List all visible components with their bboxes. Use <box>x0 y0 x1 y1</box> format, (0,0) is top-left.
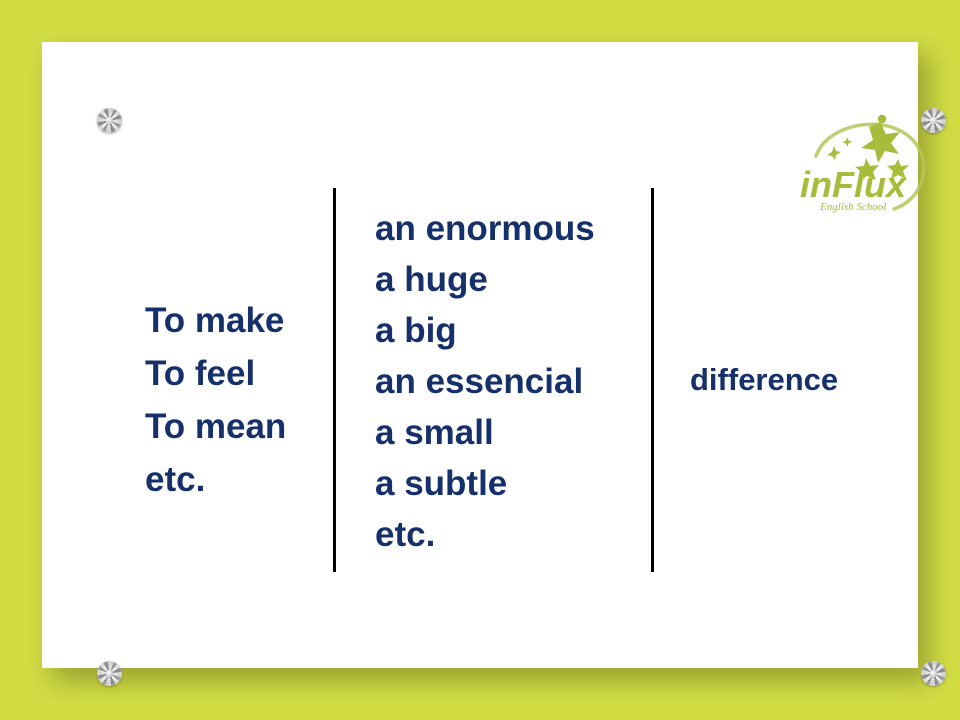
logo-tagline: English School <box>819 201 886 213</box>
verb-line: To make <box>145 294 286 347</box>
adjective-line: an essencial <box>375 356 595 407</box>
adjective-line: a huge <box>375 254 595 305</box>
adjective-column: an enormous a huge a big an essencial a … <box>375 203 595 560</box>
slide-canvas: inFlux English School To make To feel To… <box>0 0 960 720</box>
verb-line: etc. <box>145 453 286 506</box>
adjective-line: a big <box>375 305 595 356</box>
screw-icon-top-left <box>97 108 122 133</box>
logo-wordmark: inFlux <box>800 164 908 205</box>
influx-logo: inFlux English School <box>794 114 934 214</box>
adjective-line: etc. <box>375 509 595 560</box>
divider-verbs-adjectives <box>333 188 336 572</box>
adjective-line: a small <box>375 407 595 458</box>
screw-icon-bottom-right <box>921 661 946 686</box>
verb-line: To mean <box>145 400 286 453</box>
verb-column: To make To feel To mean etc. <box>145 294 286 506</box>
divider-adjectives-noun <box>651 188 654 572</box>
adjective-line: an enormous <box>375 203 595 254</box>
adjective-line: a subtle <box>375 458 595 509</box>
verb-line: To feel <box>145 347 286 400</box>
white-board: inFlux English School To make To feel To… <box>42 42 918 668</box>
noun-column: difference <box>690 360 838 400</box>
noun-line: difference <box>690 360 838 400</box>
screw-icon-bottom-left <box>97 661 122 686</box>
